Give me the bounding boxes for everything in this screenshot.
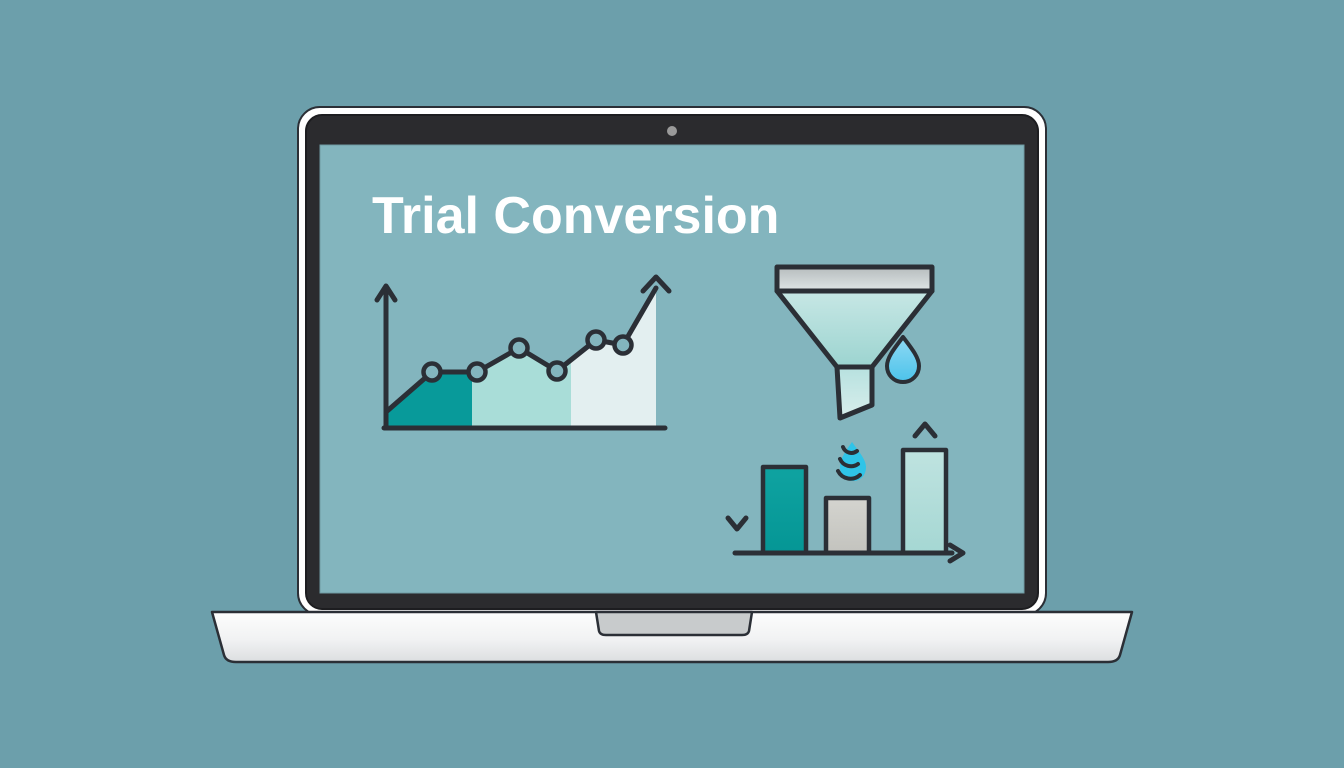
laptop-illustration: Trial Conversion <box>0 0 1344 768</box>
data-point <box>588 332 605 349</box>
trackpad-notch <box>596 612 752 635</box>
data-point <box>549 363 566 380</box>
data-point <box>424 364 441 381</box>
illustration-scene: Trial Conversion <box>0 0 1344 768</box>
webcam-icon <box>667 126 677 136</box>
data-point <box>511 340 528 357</box>
data-point <box>615 337 632 354</box>
bar-1 <box>763 467 806 553</box>
bar-3 <box>903 450 946 553</box>
page-title: Trial Conversion <box>372 187 779 245</box>
data-point <box>469 364 486 381</box>
laptop-device: Trial Conversion <box>212 107 1132 662</box>
funnel-rim <box>777 267 932 291</box>
bar-2 <box>826 498 869 553</box>
